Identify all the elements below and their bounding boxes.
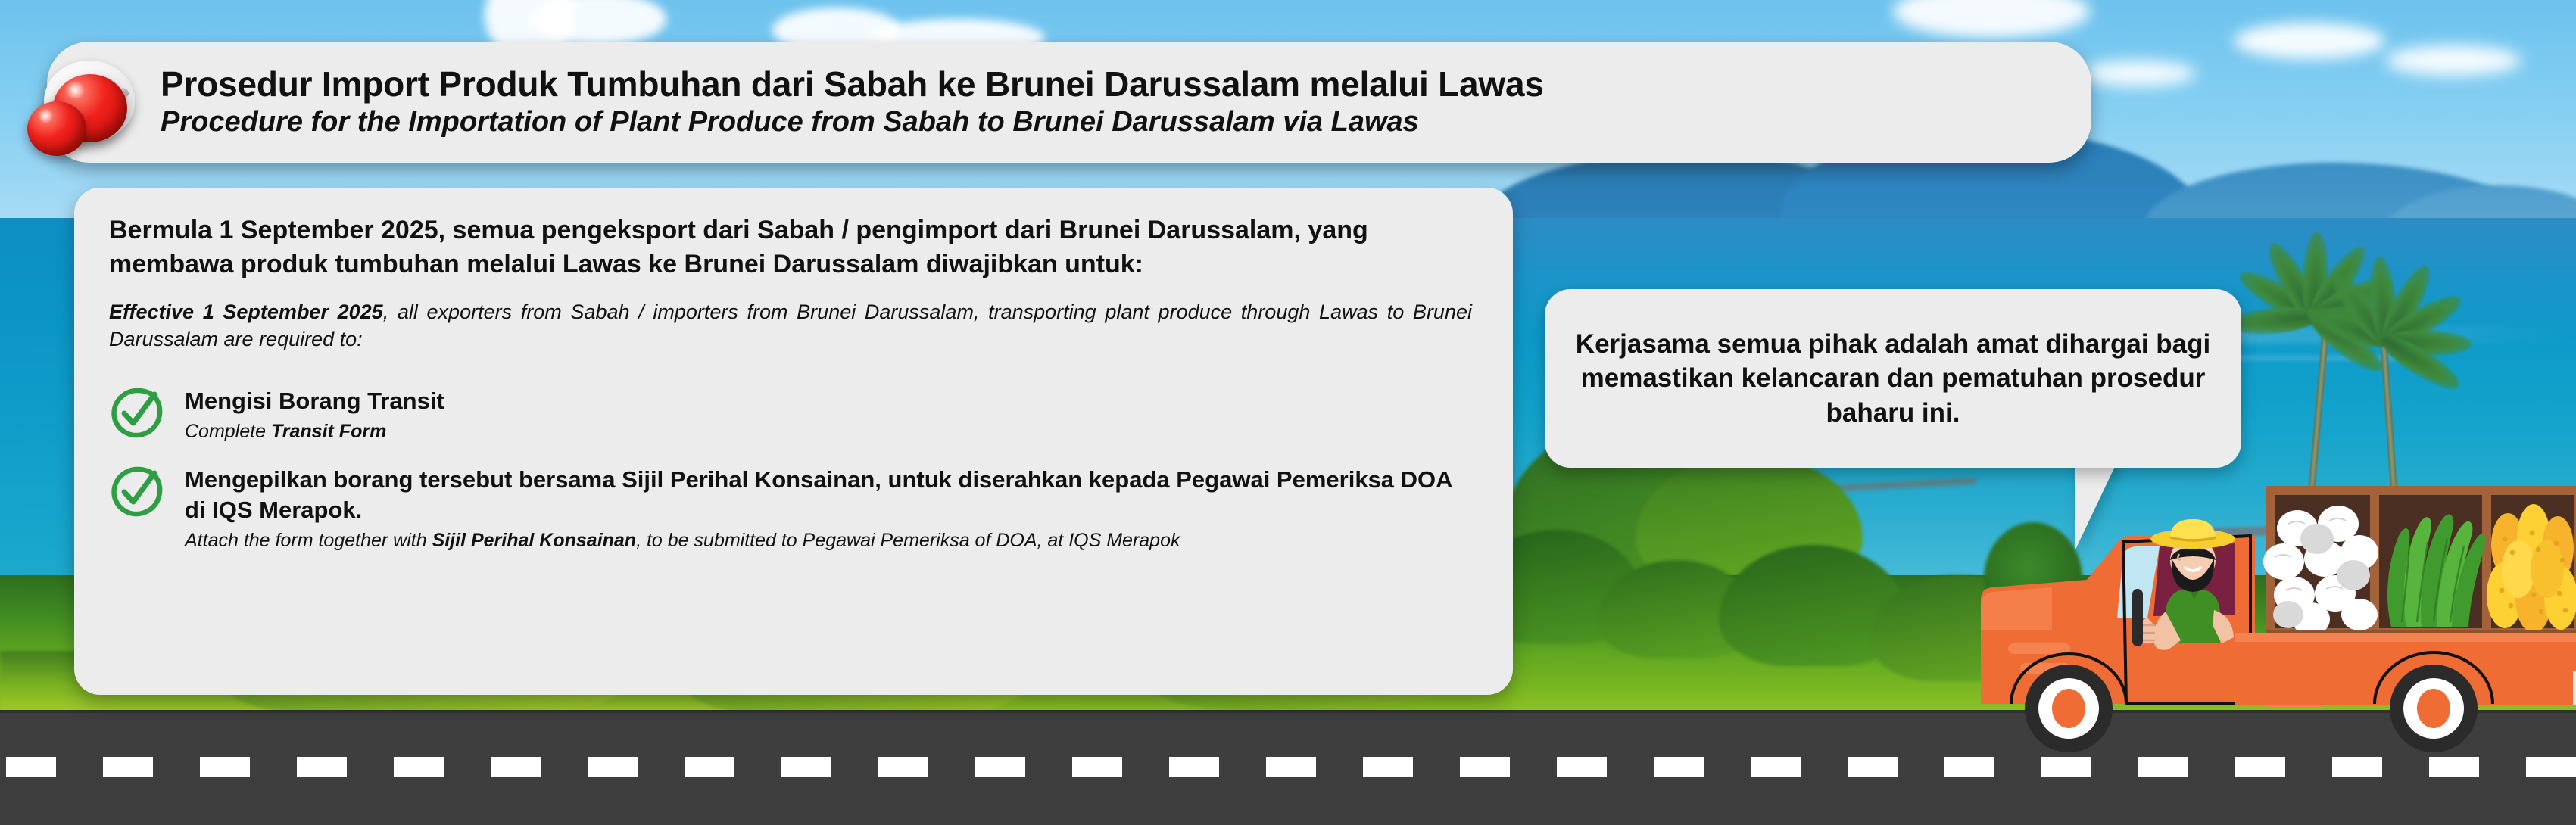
road-dash [1654,757,1704,777]
road-dash [1266,757,1316,777]
road-dash [394,757,444,777]
checklist-item-text: Mengepilkan borang tersebut bersama Siji… [185,462,1478,553]
green-check-circle-icon [109,463,165,519]
road-dash [1848,757,1898,777]
road-dash [781,757,831,777]
checklist-english: Complete Transit Form [185,419,444,444]
road-dash [6,757,56,777]
intro-english-bold: Effective 1 September 2025 [109,300,383,323]
pin-highlight [36,109,55,123]
checklist-item-text: Mengisi Borang Transit Complete Transit … [185,383,444,444]
cloud [2082,61,2196,86]
road-dash [103,757,153,777]
truck-wheel [2025,665,2113,752]
intro-paragraph-malay: Bermula 1 September 2025, semua pengeksp… [109,213,1478,282]
road-dash [588,757,638,777]
truck-wheel [2390,665,2478,752]
road-dash [2235,757,2285,777]
pin-highlight [64,82,86,98]
road-dash [1751,757,1801,777]
checklist-malay: Mengepilkan borang tersebut bersama Siji… [185,465,1478,525]
road-dash [2041,757,2091,777]
road-dash [878,757,928,777]
road-dash [1460,757,1510,777]
red-pushpin-icon [17,54,153,160]
cloud [2234,23,2385,59]
speech-bubble: Kerjasama semua pihak adalah amat diharg… [1545,289,2241,468]
page-title-english: Procedure for the Importation of Plant P… [161,105,2069,139]
title-banner: Prosedur Import Produk Tumbuhan dari Sab… [47,42,2091,163]
road-dash [2138,757,2188,777]
cloud [2385,45,2521,76]
road-dash [297,757,347,777]
speech-bubble-text: Kerjasama semua pihak adalah amat diharg… [1572,327,2214,431]
road-dash [975,757,1025,777]
checklist-english-post: , to be submitted to Pegawai Pemeriksa o… [636,530,1180,551]
road-dash [1169,757,1219,777]
checklist-english-bold: Transit Form [271,421,386,442]
pin-head-small [27,101,86,156]
road-dash [2332,757,2382,777]
road-dash [1072,757,1122,777]
road-dash [1557,757,1607,777]
road-dash [2526,757,2576,777]
checklist-item: Mengisi Borang Transit Complete Transit … [109,383,1478,444]
road-dash [200,757,250,777]
checklist-malay: Mengisi Borang Transit [185,386,444,416]
road-dash [491,757,541,777]
road-dash [685,757,734,777]
checklist-english-pre: Complete [185,421,271,442]
green-check-circle-icon [109,384,165,441]
road-dash [1363,757,1413,777]
intro-paragraph-english: Effective 1 September 2025, all exporter… [109,298,1472,353]
page-title-malay: Prosedur Import Produk Tumbuhan dari Sab… [161,65,2069,104]
checklist-english-pre: Attach the form together with [185,530,432,551]
checklist-english: Attach the form together with Sijil Peri… [185,528,1478,553]
content-panel: Bermula 1 September 2025, semua pengeksp… [74,188,1513,695]
road-dashes [0,757,2576,777]
checklist-item: Mengepilkan borang tersebut bersama Siji… [109,462,1478,553]
road-dash [1944,757,1994,777]
produce-crate-icon [2263,486,2576,648]
requirements-checklist: Mengisi Borang Transit Complete Transit … [109,383,1478,553]
orange-pickup-truck-icon [1938,454,2576,757]
intro-malay-bold: Bermula 1 September 2025, [109,216,445,244]
road-dash [2429,757,2479,777]
checklist-english-bold: Sijil Perihal Konsainan [432,530,637,551]
